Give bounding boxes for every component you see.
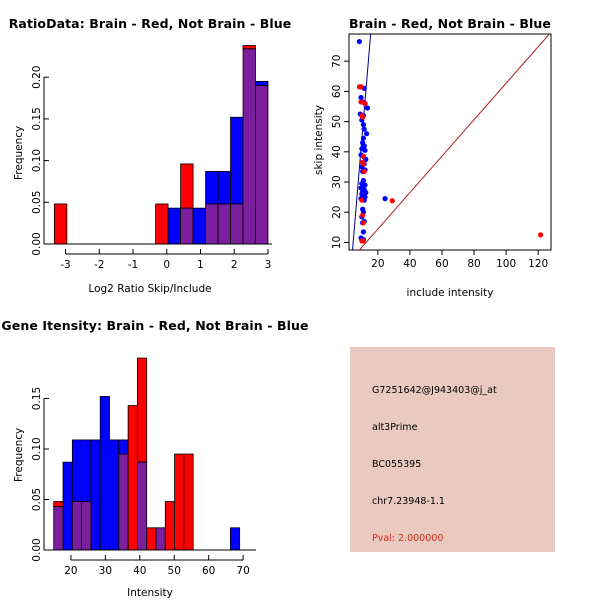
scatter-point bbox=[382, 196, 387, 201]
histogram-bar bbox=[119, 440, 128, 454]
y-tick-label: 60 bbox=[331, 85, 343, 98]
y-tick-label: 0.05 bbox=[31, 191, 43, 214]
histogram-bar-overlap bbox=[82, 502, 91, 550]
histogram-bar-overlap bbox=[119, 454, 128, 550]
x-tick-label: 3 bbox=[265, 259, 272, 271]
gene-histogram-ylabel: Frequency bbox=[13, 428, 25, 482]
scatter-lines-group bbox=[353, 34, 550, 250]
x-tick-label: 70 bbox=[236, 565, 249, 577]
scatter-point bbox=[362, 101, 367, 106]
regression-line-red-fit bbox=[359, 34, 549, 250]
y-tick-label: 30 bbox=[331, 175, 343, 188]
histogram-bar bbox=[256, 81, 268, 85]
histogram-bar-overlap bbox=[231, 204, 243, 244]
scatter-point bbox=[357, 39, 362, 44]
histogram-bar bbox=[63, 462, 72, 550]
scatter-point bbox=[361, 229, 366, 234]
scatter-point bbox=[365, 105, 370, 110]
histogram-bar bbox=[72, 440, 81, 502]
histogram-bar-overlap bbox=[137, 462, 146, 550]
histogram-bar bbox=[218, 171, 230, 204]
histogram-bar bbox=[128, 406, 137, 550]
y-tick-label: 0.00 bbox=[31, 538, 43, 561]
y-tick-label: 0.15 bbox=[31, 107, 43, 130]
histogram-bar bbox=[54, 204, 66, 244]
histogram-bar bbox=[206, 171, 218, 204]
y-tick-label: 0.10 bbox=[31, 437, 43, 460]
histogram-bar-overlap bbox=[206, 204, 218, 244]
histogram-bar-overlap bbox=[72, 502, 81, 550]
scatter-point bbox=[364, 131, 369, 136]
scatter-y-axis: 10203040506070 bbox=[331, 55, 349, 250]
x-tick-label: 80 bbox=[467, 258, 480, 270]
y-tick-label: 70 bbox=[331, 55, 343, 68]
histogram-bar bbox=[82, 440, 91, 502]
histogram-bar bbox=[181, 164, 193, 208]
ratio-histogram-xlabel: Log2 Ratio Skip/Include bbox=[0, 283, 300, 295]
gene-x-axis: 203040506070 bbox=[44, 550, 256, 577]
scatter-plot: 1020304050607020406080100120 bbox=[300, 0, 600, 300]
histogram-bar bbox=[184, 454, 193, 550]
scatter-point bbox=[538, 232, 543, 237]
x-tick-label: -3 bbox=[60, 259, 70, 271]
gene-info-box: G7251642@J943403@j_at alt3Prime BC055395… bbox=[350, 347, 555, 552]
histogram-bar-overlap bbox=[243, 49, 255, 244]
y-tick-label: 0.05 bbox=[31, 488, 43, 511]
histogram-bar-overlap bbox=[218, 204, 230, 244]
x-tick-label: -2 bbox=[94, 259, 104, 271]
gene-accession: BC055395 bbox=[372, 459, 421, 470]
histogram-bar bbox=[175, 454, 184, 550]
panel-gene-info: G7251642@J943403@j_at alt3Prime BC055395… bbox=[300, 300, 600, 600]
gene-event-type: alt3Prime bbox=[372, 422, 417, 433]
scatter-point bbox=[358, 84, 363, 89]
plot-canvas: RatioData: Brain - Red, Not Brain - Blue… bbox=[0, 0, 600, 600]
scatter-title: Brain - Red, Not Brain - Blue bbox=[300, 16, 600, 31]
x-tick-label: 20 bbox=[371, 258, 384, 270]
ratio-histogram-title: RatioData: Brain - Red, Not Brain - Blue bbox=[0, 16, 300, 31]
x-tick-label: 40 bbox=[133, 565, 146, 577]
scatter-point bbox=[361, 122, 366, 127]
y-tick-label: 0.15 bbox=[31, 387, 43, 410]
y-tick-label: 10 bbox=[331, 236, 343, 249]
scatter-xlabel: include intensity bbox=[300, 287, 600, 299]
gene-location: chr7.23948-1.1 bbox=[372, 496, 445, 507]
gene-histogram-plot: 0.000.050.100.15203040506070 bbox=[0, 300, 300, 600]
ratio-histogram-ylabel: Frequency bbox=[13, 126, 25, 180]
histogram-bar bbox=[243, 45, 255, 48]
scatter-point bbox=[361, 238, 366, 243]
scatter-point bbox=[362, 169, 367, 174]
ratio-histogram-plot: 0.000.050.100.150.20-3-2-10123 bbox=[0, 0, 300, 300]
histogram-bar-overlap bbox=[256, 86, 268, 244]
histogram-bar-overlap bbox=[156, 528, 165, 550]
x-tick-label: -1 bbox=[128, 259, 138, 271]
scatter-point bbox=[362, 148, 367, 153]
histogram-bar bbox=[91, 440, 100, 550]
scatter-x-axis: 20406080100120 bbox=[371, 250, 548, 270]
y-tick-label: 0.00 bbox=[31, 232, 43, 255]
scatter-point bbox=[361, 136, 366, 141]
ratio-bars-group bbox=[54, 45, 268, 244]
scatter-point bbox=[362, 127, 367, 132]
scatter-point bbox=[361, 154, 366, 159]
x-tick-label: 100 bbox=[496, 258, 516, 270]
x-tick-label: 50 bbox=[168, 565, 181, 577]
scatter-point bbox=[361, 161, 366, 166]
scatter-ylabel: skip intensity bbox=[313, 105, 325, 175]
y-tick-label: 0.20 bbox=[31, 65, 43, 88]
gene-probe-id: G7251642@J943403@j_at bbox=[372, 385, 497, 396]
histogram-bar bbox=[231, 117, 243, 204]
scatter-point bbox=[360, 114, 365, 119]
gene-histogram-xlabel: Intensity bbox=[0, 587, 300, 599]
x-tick-label: 60 bbox=[435, 258, 448, 270]
histogram-bar bbox=[156, 204, 168, 244]
histogram-bar bbox=[168, 208, 180, 244]
x-tick-label: 120 bbox=[528, 258, 548, 270]
histogram-bar-overlap bbox=[54, 507, 63, 550]
ratio-x-axis: -3-2-10123 bbox=[44, 244, 272, 271]
histogram-bar bbox=[193, 208, 205, 244]
scatter-points-group bbox=[357, 39, 543, 244]
histogram-bar bbox=[230, 528, 239, 550]
x-tick-label: 0 bbox=[163, 259, 170, 271]
x-tick-label: 20 bbox=[64, 565, 77, 577]
histogram-bar bbox=[165, 502, 174, 550]
scatter-point bbox=[358, 95, 363, 100]
gene-histogram-title: Gene Itensity: Brain - Red, Not Brain - … bbox=[0, 318, 310, 333]
scatter-point bbox=[359, 198, 364, 203]
x-tick-label: 30 bbox=[99, 565, 112, 577]
x-tick-label: 2 bbox=[231, 259, 238, 271]
x-tick-label: 60 bbox=[202, 565, 215, 577]
panel-ratio-histogram: RatioData: Brain - Red, Not Brain - Blue… bbox=[0, 0, 300, 300]
y-tick-label: 40 bbox=[331, 145, 343, 158]
y-tick-label: 0.10 bbox=[31, 149, 43, 172]
scatter-point bbox=[360, 213, 365, 218]
x-tick-label: 40 bbox=[403, 258, 416, 270]
ratio-y-axis: 0.000.050.100.150.20 bbox=[31, 65, 49, 255]
x-tick-label: 1 bbox=[197, 259, 204, 271]
y-tick-label: 20 bbox=[331, 206, 343, 219]
histogram-bar bbox=[110, 440, 119, 550]
histogram-bar bbox=[100, 396, 109, 550]
gene-y-axis: 0.000.050.100.15 bbox=[31, 387, 49, 562]
gene-pval: Pval: 2.000000 bbox=[372, 533, 443, 544]
panel-intensity-scatter: Brain - Red, Not Brain - Blue 1020304050… bbox=[300, 0, 600, 300]
scatter-point bbox=[390, 198, 395, 203]
histogram-bar-overlap bbox=[181, 208, 193, 244]
panel-gene-histogram: Gene Itensity: Brain - Red, Not Brain - … bbox=[0, 300, 300, 600]
histogram-bar bbox=[147, 528, 156, 550]
y-tick-label: 50 bbox=[331, 115, 343, 128]
scatter-point bbox=[361, 220, 366, 225]
histogram-bar bbox=[54, 502, 63, 507]
gene-bars-group bbox=[54, 358, 240, 550]
histogram-bar bbox=[137, 358, 146, 462]
